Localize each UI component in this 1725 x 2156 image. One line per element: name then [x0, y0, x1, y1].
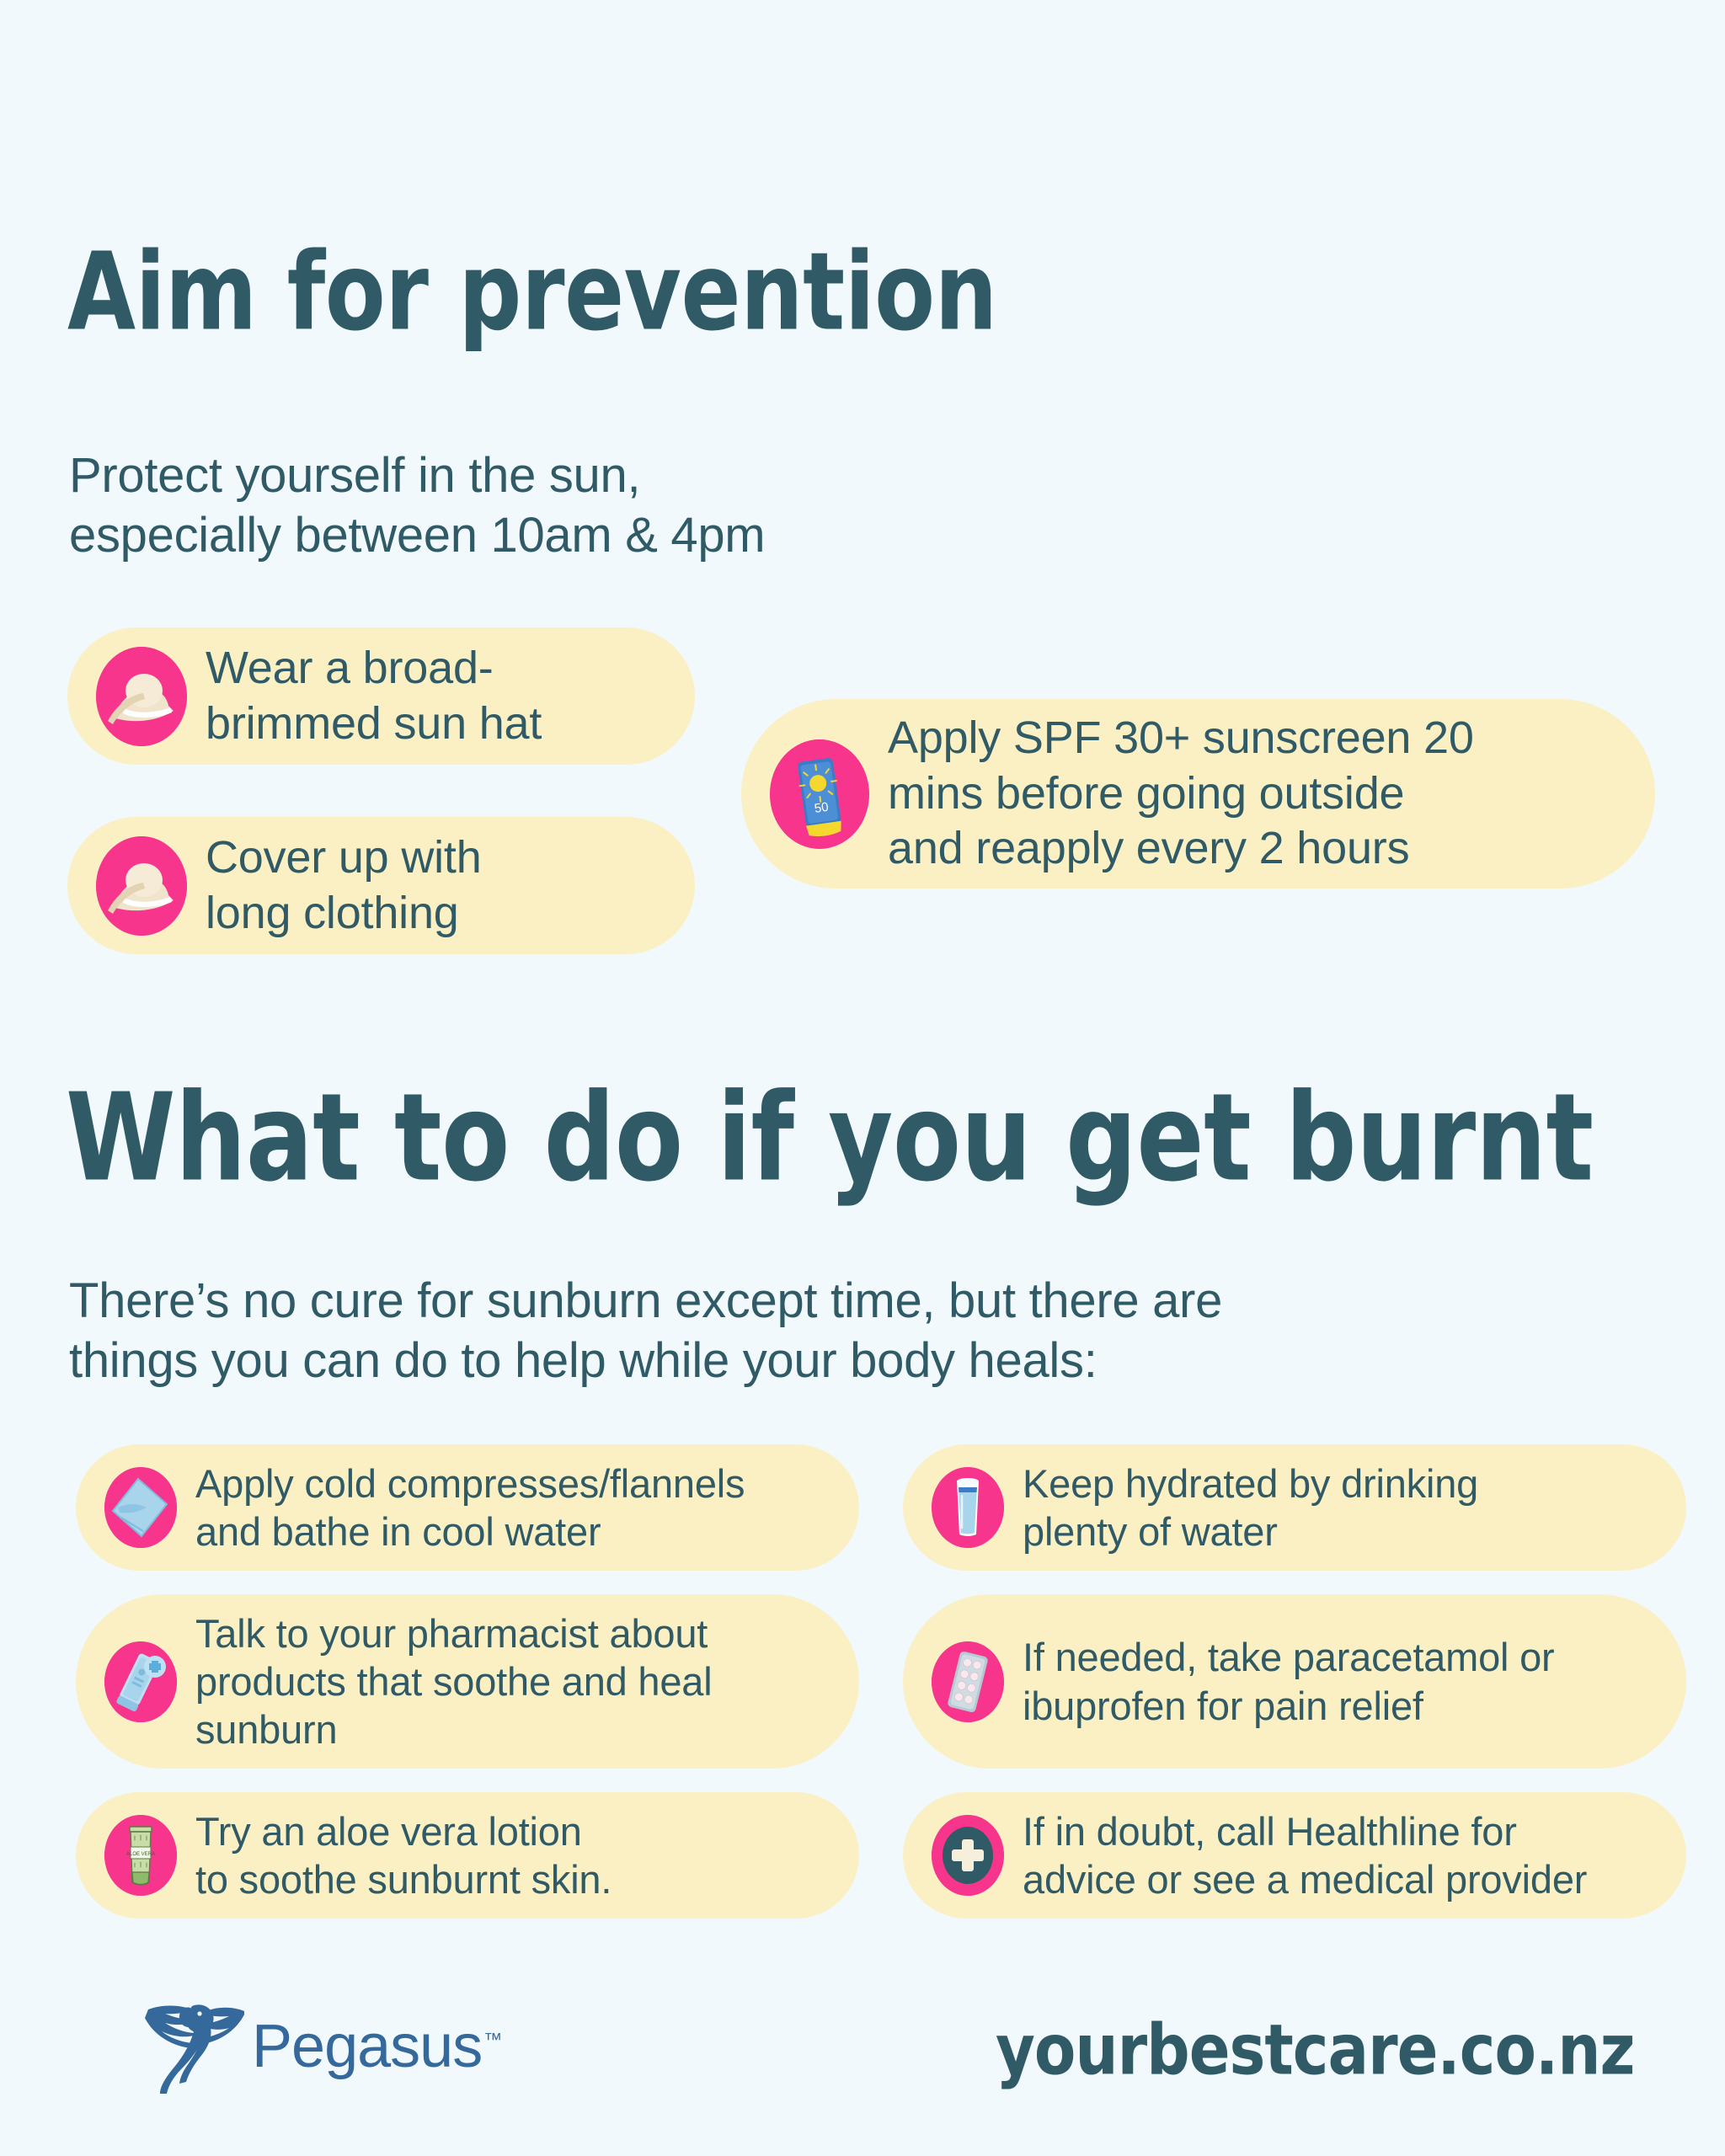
tip-line-2: products that soothe and heal — [195, 1657, 713, 1705]
medicine-tube-icon — [104, 1641, 177, 1722]
tip-line-2: plenty of water — [1023, 1508, 1478, 1556]
tip-line-2: advice or see a medical provider — [1023, 1855, 1587, 1903]
tip-line-1: Apply SPF 30+ sunscreen 20 — [888, 711, 1474, 766]
tip-line-3: and reapply every 2 hours — [888, 821, 1474, 877]
website-url[interactable]: yourbestcare.co.nz — [996, 2009, 1634, 2091]
tip-card-healthline: If in doubt, call Healthline for advice … — [903, 1792, 1686, 1919]
intro-text-burnt: There’s no cure for sunburn except time,… — [69, 1272, 1222, 1391]
folded-cloth-icon — [104, 1467, 177, 1548]
tip-line-2: long clothing — [206, 886, 482, 942]
tip-line-2: ibuprofen for pain relief — [1023, 1682, 1555, 1730]
page-title-prevention: Aim for prevention — [67, 231, 997, 355]
tip-card-cold-compress: Apply cold compresses/flannels and bathe… — [76, 1444, 859, 1571]
tip-line-1: Try an aloe vera lotion — [195, 1807, 611, 1855]
tip-line-1: Talk to your pharmacist about — [195, 1609, 713, 1657]
tip-card-text: Cover up with long clothing — [206, 830, 482, 942]
infographic-page: Aim for prevention Protect yourself in t… — [0, 0, 1725, 2156]
tip-line-1: Cover up with — [206, 830, 482, 886]
tip-line-1: If in doubt, call Healthline for — [1023, 1807, 1587, 1855]
trademark-symbol: ™ — [483, 2029, 501, 2050]
tip-card-pharmacist: Talk to your pharmacist about products t… — [76, 1594, 859, 1769]
tip-line-1: Apply cold compresses/flannels — [195, 1460, 745, 1508]
sunscreen-tube-icon: 50 — [770, 739, 869, 849]
sunscreen-spf-label: 50 — [814, 799, 830, 815]
tip-card-text: Apply cold compresses/flannels and bathe… — [195, 1460, 745, 1556]
intro-line-2: especially between 10am & 4pm — [69, 506, 765, 566]
tip-card-sunscreen: 50 Apply SPF 30+ sunscreen 20 mins befor… — [741, 699, 1655, 889]
tip-card-hydration: Keep hydrated by drinking plenty of wate… — [903, 1444, 1686, 1571]
pegasus-winged-horse-icon — [142, 1994, 247, 2098]
water-glass-icon — [932, 1467, 1004, 1548]
pill-blister-pack-icon — [932, 1641, 1004, 1722]
tip-card-text: If in doubt, call Healthline for advice … — [1023, 1807, 1587, 1904]
tip-line-2: mins before going outside — [888, 766, 1474, 822]
tip-card-text: Talk to your pharmacist about products t… — [195, 1609, 713, 1754]
tip-card-pain-relief: If needed, take paracetamol or ibuprofen… — [903, 1594, 1686, 1769]
sun-hat-icon — [96, 836, 187, 936]
tip-line-1: Wear a broad- — [206, 641, 542, 696]
tip-card-sun-hat: Wear a broad- brimmed sun hat — [67, 627, 695, 765]
intro-line-1: Protect yourself in the sun, — [69, 446, 765, 506]
tip-line-2: brimmed sun hat — [206, 696, 542, 752]
intro-text-prevention: Protect yourself in the sun, especially … — [69, 446, 765, 566]
tip-card-text: If needed, take paracetamol or ibuprofen… — [1023, 1633, 1555, 1730]
tip-card-aloe-vera: ALOE VERA Try an aloe vera lotion to soo… — [76, 1792, 859, 1919]
pegasus-wordmark-text: Pegasus — [252, 2013, 482, 2080]
tip-card-text: Try an aloe vera lotion to soothe sunbur… — [195, 1807, 611, 1904]
tip-card-text: Wear a broad- brimmed sun hat — [206, 641, 542, 752]
intro-line-2: things you can do to help while your bod… — [69, 1331, 1222, 1391]
medical-cross-icon — [932, 1815, 1004, 1896]
tip-line-1: If needed, take paracetamol or — [1023, 1633, 1555, 1681]
tip-line-2: to soothe sunburnt skin. — [195, 1855, 611, 1903]
sun-hat-icon — [96, 647, 187, 746]
pegasus-logo: Pegasus™ — [142, 1994, 501, 2098]
aloe-vera-tube-icon: ALOE VERA — [104, 1815, 177, 1896]
tip-card-text: Apply SPF 30+ sunscreen 20 mins before g… — [888, 711, 1474, 878]
tip-card-text: Keep hydrated by drinking plenty of wate… — [1023, 1460, 1478, 1556]
intro-line-1: There’s no cure for sunburn except time,… — [69, 1272, 1222, 1331]
pegasus-wordmark: Pegasus™ — [252, 2012, 501, 2081]
aloe-label: ALOE VERA — [126, 1852, 155, 1857]
tip-line-1: Keep hydrated by drinking — [1023, 1460, 1478, 1508]
tip-card-long-clothing: Cover up with long clothing — [67, 817, 695, 954]
tip-line-3: sunburn — [195, 1705, 713, 1753]
page-title-burnt: What to do if you get burnt — [66, 1067, 1594, 1209]
tip-line-2: and bathe in cool water — [195, 1508, 745, 1556]
